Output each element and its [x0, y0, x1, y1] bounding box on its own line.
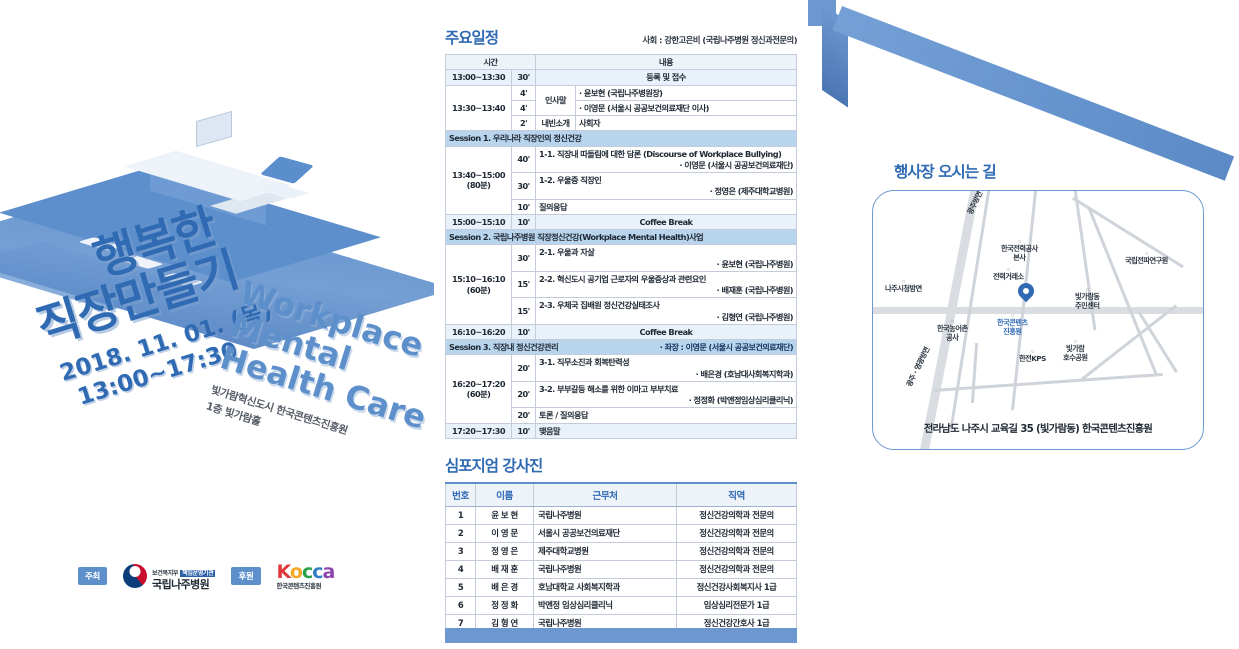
col-time: 시간 [446, 55, 536, 70]
row-content: 맺음말 [536, 423, 797, 438]
row-content: 1-1. 직장내 따돌림에 대한 담론 (Discourse of Workpl… [536, 146, 797, 173]
map-label: 광주 · 영광방면 [905, 346, 931, 388]
sponsor-chip: 후원 [231, 567, 260, 585]
row-time: 15:00~15:10 [446, 214, 512, 229]
speaker-role: 임상심리전문가 1급 [677, 596, 797, 614]
schedule-header-row: 시간내용 [446, 55, 797, 70]
cover-logo-row: 주최 보건복지부책임운영기관 국립나주병원 후원 Kocca 한국콘텐츠진흥원 [78, 562, 334, 590]
schedule-table: 시간내용13:00~13:3030'등록 및 접수13:30~13:404'인사… [445, 54, 797, 439]
row-time: 15:10~16:10(60분) [446, 245, 512, 325]
map-road-minor [1081, 304, 1177, 380]
speaker-no: 1 [446, 506, 476, 524]
row-duration: 10' [512, 324, 536, 339]
speaker-org: 서울시 공공보건의료재단 [534, 524, 677, 542]
talk-title: 1-2. 우울증 직장인 [539, 175, 601, 185]
row-content: 3-1. 직무소진과 회복탄력성· 배은경 (호남대사회복지학과) [536, 355, 797, 382]
table-row: 1윤 보 현국립나주병원정신건강의학과 전문의 [446, 506, 797, 524]
map-label: 국립전파연구원 [1125, 251, 1168, 266]
speaker-role: 정신건강의학과 전문의 [677, 542, 797, 560]
map-label: 한국전력공사본사 [1001, 239, 1038, 262]
map-label: 전력거래소 [993, 267, 1024, 282]
schedule-row: 13:40~15:00(80분)40'1-1. 직장내 따돌림에 대한 담론 (… [446, 146, 797, 173]
map-road-minor [971, 343, 978, 403]
map-title: 행사장 오시는 길 [894, 160, 996, 182]
speaker-no: 3 [446, 542, 476, 560]
speakers-header-row: 번호이름근무처직역 [446, 483, 797, 507]
row-content: 2-1. 우울과 자살· 윤보현 (국립나주병원) [536, 245, 797, 272]
row-time: 13:30~13:40 [446, 85, 512, 131]
speaker-no: 5 [446, 578, 476, 596]
row-time: 16:10~16:20 [446, 324, 512, 339]
table-row: 2이 영 문서울시 공공보건의료재단정신건강의학과 전문의 [446, 524, 797, 542]
speaker-org: 박앤정 임상심리클리닉 [534, 596, 677, 614]
session-chair: · 좌장 : 이영문 (서울시 공공보건의료재단) [660, 342, 793, 352]
decor-band-diagonal [833, 6, 1234, 181]
speaker-role: 정신건강의학과 전문의 [677, 524, 797, 542]
row-duration: 20' [512, 381, 536, 408]
talk-title: 3-1. 직무소진과 회복탄력성 [539, 357, 629, 367]
row-duration: 10' [512, 199, 536, 214]
row-duration: 40' [512, 146, 536, 173]
speaker-role: 정신건강사회복지사 1급 [677, 578, 797, 596]
row-content: 토론 / 질의응답 [536, 408, 797, 423]
row-subtype: 인사말 [536, 85, 576, 116]
sponsor-logo: Kocca 한국콘텐츠진흥원 [277, 563, 335, 590]
col-content: 내용 [536, 55, 797, 70]
talk-title: 2-1. 우울과 자살 [539, 247, 594, 257]
speaker-name: 이 영 문 [476, 524, 534, 542]
session-header: Session 3. 직장내 정신건강관리· 좌장 : 이영문 (서울시 공공보… [446, 340, 797, 355]
program-panel: 주요일정 사회 : 강한고은비 (국립나주병원 정신과전문의) 시간내용13:0… [434, 0, 808, 649]
speaker-org: 국립나주병원 [534, 560, 677, 578]
row-content: 3-2. 부부갈등 해소를 위한 이마고 부부치료· 정정화 (박앤정임상심리클… [536, 381, 797, 408]
speaker-role: 정신건강의학과 전문의 [677, 560, 797, 578]
row-content: 사회자 [576, 116, 797, 131]
map-label: 빛가람호수공원 [1063, 339, 1087, 362]
map-label: 나주시청방면 [885, 279, 922, 294]
row-duration: 2' [512, 116, 536, 131]
row-time: 13:40~15:00(80분) [446, 146, 512, 214]
speakers-section: 심포지엄 강사진 번호이름근무처직역1윤 보 현국립나주병원정신건강의학과 전문… [445, 454, 797, 633]
session-header: Session 1. 우리나라 직장인의 정신건강 [446, 131, 797, 146]
speaker-org: 국립나주병원 [534, 506, 677, 524]
table-row: 6정 정 화박앤정 임상심리클리닉임상심리전문가 1급 [446, 596, 797, 614]
talk-title: 1-1. 직장내 따돌림에 대한 담론 (Discourse of Workpl… [539, 149, 781, 159]
schedule-row: 13:30~13:404'인사말· 윤보현 (국립나주병원장) [446, 85, 797, 100]
talk-speaker: · 배재훈 (국립나주병원) [539, 285, 793, 295]
speakers-col-3: 직역 [677, 483, 797, 507]
schedule-row: 17:20~17:3010'맺음말 [446, 423, 797, 438]
map-label: 한전KPS [1019, 349, 1046, 364]
speakers-col-0: 번호 [446, 483, 476, 507]
host-logo: 보건복지부책임운영기관 국립나주병원 [123, 562, 215, 590]
schedule-row: Session 2. 국립나주병원 직장정신건강(Workplace Menta… [446, 230, 797, 245]
row-content: 질의응답 [536, 199, 797, 214]
table-row: 3정 영 은제주대학교병원정신건강의학과 전문의 [446, 542, 797, 560]
row-duration: 10' [512, 214, 536, 229]
row-duration: 10' [512, 423, 536, 438]
speakers-title: 심포지엄 강사진 [445, 454, 542, 476]
host-org-name: 국립나주병원 [152, 579, 215, 591]
talk-title: 3-2. 부부갈등 해소를 위한 이마고 부부치료 [539, 384, 678, 394]
schedule-row: 16:10~16:2010'Coffee Break [446, 324, 797, 339]
schedule-row: 13:00~13:3030'등록 및 접수 [446, 70, 797, 85]
taegeuk-icon [123, 564, 147, 588]
speaker-name: 정 정 화 [476, 596, 534, 614]
speaker-name: 배 재 훈 [476, 560, 534, 578]
speaker-name: 배 은 경 [476, 578, 534, 596]
row-content: · 이영문 (서울시 공공보건의료재단 이사) [576, 100, 797, 115]
speaker-name: 윤 보 현 [476, 506, 534, 524]
program-footer-bar [445, 628, 797, 643]
table-row: 4배 재 훈국립나주병원정신건강의학과 전문의 [446, 560, 797, 578]
speakers-col-2: 근무처 [534, 483, 677, 507]
isometric-monitor [196, 111, 232, 147]
speaker-no: 2 [446, 524, 476, 542]
map-label-venue: 한국콘텐츠진흥원 [997, 313, 1028, 336]
schedule-row: Session 3. 직장내 정신건강관리· 좌장 : 이영문 (서울시 공공보… [446, 340, 797, 355]
row-content: · 윤보현 (국립나주병원장) [576, 85, 797, 100]
venue-pin-icon [1018, 283, 1034, 305]
speakers-col-1: 이름 [476, 483, 534, 507]
talk-speaker: · 정영은 (제주대학교병원) [539, 186, 793, 196]
row-content: Coffee Break [536, 324, 797, 339]
speaker-name: 정 영 은 [476, 542, 534, 560]
speaker-no: 6 [446, 596, 476, 614]
row-duration: 30' [512, 245, 536, 272]
row-duration: 4' [512, 100, 536, 115]
row-subtype: 내빈소개 [536, 116, 576, 131]
kocca-sub-ko: 한국콘텐츠진흥원 [277, 583, 335, 590]
map-panel: 행사장 오시는 길 한국전력공사본사국립전파연구원전력거래소나주시청방면빛가람동… [808, 0, 1239, 649]
row-duration: 30' [512, 70, 536, 85]
table-row: 5배 은 경호남대학교 사회복지학과정신건강사회복지사 1급 [446, 578, 797, 596]
brochure-page: 행복한 직장만들기 2018. 11. 01. (목) 13:00~17:30 … [0, 0, 1239, 649]
talk-title: 2-2. 혁신도시 공기업 근로자의 우울증상과 관련요인 [539, 274, 706, 284]
talk-speaker: · 배은경 (호남대사회복지학과) [539, 369, 793, 379]
session-header: Session 2. 국립나주병원 직장정신건강(Workplace Menta… [446, 230, 797, 245]
map-label: 빛가람동주민센터 [1075, 287, 1099, 310]
talk-speaker: · 정정화 (박앤정임상심리클리닉) [539, 395, 793, 405]
speaker-org: 제주대학교병원 [534, 542, 677, 560]
program-moderator: 사회 : 강한고은비 (국립나주병원 정신과전문의) [643, 34, 798, 48]
row-time: 17:20~17:30 [446, 423, 512, 438]
row-duration: 20' [512, 355, 536, 382]
row-duration: 20' [512, 408, 536, 423]
schedule-row: 15:10~16:10(60분)30'2-1. 우울과 자살· 윤보현 (국립나… [446, 245, 797, 272]
program-title: 주요일정 [445, 26, 498, 48]
map-container: 한국전력공사본사국립전파연구원전력거래소나주시청방면빛가람동주민센터한국농어촌공… [872, 190, 1204, 450]
row-content: 2-2. 혁신도시 공기업 근로자의 우울증상과 관련요인· 배재훈 (국립나주… [536, 271, 797, 298]
talk-speaker: · 김형연 (국립나주병원) [539, 312, 793, 322]
map-road-minor [933, 373, 1163, 392]
speaker-no: 4 [446, 560, 476, 578]
row-duration: 4' [512, 85, 536, 100]
speakers-table: 번호이름근무처직역1윤 보 현국립나주병원정신건강의학과 전문의2이 영 문서울… [445, 482, 797, 633]
row-time: 13:00~13:30 [446, 70, 512, 85]
map-address: 전라남도 나주시 교육길 35 (빛가람동) 한국콘텐츠진흥원 [873, 420, 1203, 435]
speaker-role: 정신건강의학과 전문의 [677, 506, 797, 524]
map-road-main [872, 307, 1204, 314]
talk-speaker: · 이영문 (서울시 공공보건의료재단) [539, 160, 793, 170]
kocca-wordmark: Kocca [277, 561, 335, 583]
row-duration: 30' [512, 173, 536, 200]
host-chip: 주최 [78, 567, 107, 585]
row-content: 1-2. 우울증 직장인· 정영은 (제주대학교병원) [536, 173, 797, 200]
speaker-org: 호남대학교 사회복지학과 [534, 578, 677, 596]
map-label: 한국농어촌공사 [937, 319, 968, 342]
cover-panel: 행복한 직장만들기 2018. 11. 01. (목) 13:00~17:30 … [0, 0, 434, 649]
row-content: 2-3. 우체국 집배원 정신건강실태조사· 김형연 (국립나주병원) [536, 298, 797, 325]
row-content: 등록 및 접수 [536, 70, 797, 85]
talk-speaker: · 윤보현 (국립나주병원) [539, 259, 793, 269]
row-duration: 15' [512, 271, 536, 298]
schedule-row: Session 1. 우리나라 직장인의 정신건강 [446, 131, 797, 146]
schedule-row: 16:20~17:20(60분)20'3-1. 직무소진과 회복탄력성· 배은경… [446, 355, 797, 382]
host-ministry-line: 보건복지부책임운영기관 [152, 570, 215, 577]
program-header: 주요일정 사회 : 강한고은비 (국립나주병원 정신과전문의) [445, 26, 797, 48]
schedule-row: 15:00~15:1010'Coffee Break [446, 214, 797, 229]
talk-title: 2-3. 우체국 집배원 정신건강실태조사 [539, 300, 659, 310]
row-time: 16:20~17:20(60분) [446, 355, 512, 423]
row-duration: 15' [512, 298, 536, 325]
row-content: Coffee Break [536, 214, 797, 229]
